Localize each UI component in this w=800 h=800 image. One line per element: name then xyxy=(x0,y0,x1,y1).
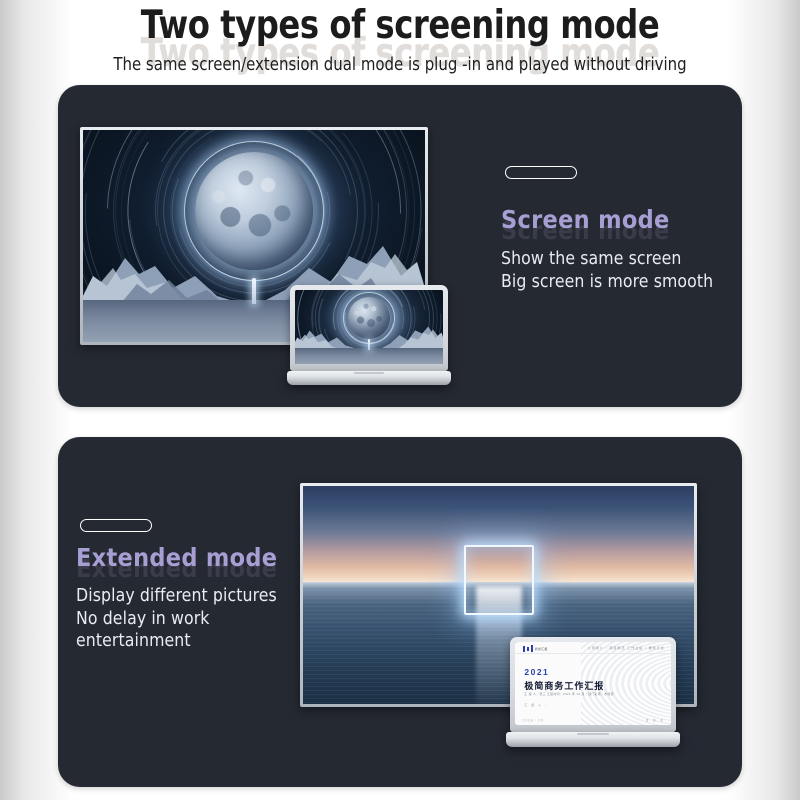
laptop-base-extended xyxy=(506,732,680,747)
laptop-base xyxy=(287,371,451,385)
laptop-screen-mode xyxy=(290,285,448,387)
page-header: Two types of screening mode Two types of… xyxy=(0,0,800,84)
slide-meta: 汇 报 人 ： xyxy=(524,703,549,707)
page-title: Two types of screening mode xyxy=(32,4,768,48)
card-screen-mode[interactable]: Screen mode Screen mode Show the same sc… xyxy=(58,85,742,407)
mode-description-extended: Display different pictures No delay in w… xyxy=(76,585,336,653)
slide-year: 2021 xyxy=(524,667,549,677)
slide-logo: 商务汇报 xyxy=(523,645,548,652)
mode-description-screen: Show the same screen Big screen is more … xyxy=(501,248,742,293)
mountain-left-mirror xyxy=(295,321,361,351)
mountain-right-mirror xyxy=(377,319,443,351)
ice-plain-mirror xyxy=(295,348,443,364)
slide-footer-right: 第 壹 章 xyxy=(646,718,665,722)
beacon-light xyxy=(252,278,256,304)
title-wrap: Two types of screening mode Two types of… xyxy=(0,4,800,52)
laptop-extended-mode: 商务汇报 公司简介 / 项目概况 工作业绩 / 履新计划 2021 极简商务工作… xyxy=(510,637,676,749)
slide-heading: 极简商务工作汇报 xyxy=(524,679,604,692)
slide-logo-text: 商务汇报 xyxy=(535,647,548,651)
page-subtitle: The same screen/extension dual mode is p… xyxy=(20,54,780,76)
card-extended-mode[interactable]: Extended mode Extended mode Display diff… xyxy=(58,437,742,787)
mode-title-screen: Screen mode xyxy=(501,206,670,234)
scene-night-moon-mirror xyxy=(295,290,443,364)
presentation-slide: 商务汇报 公司简介 / 项目概况 工作业绩 / 履新计划 2021 极简商务工作… xyxy=(515,642,671,725)
laptop-lid xyxy=(290,285,448,371)
badge-pill-screen-mode xyxy=(505,166,577,179)
laptop-lid-extended: 商务汇报 公司简介 / 项目概况 工作业绩 / 履新计划 2021 极简商务工作… xyxy=(510,637,676,732)
beacon-light-mirror xyxy=(368,339,370,350)
badge-pill-extended-mode xyxy=(80,519,152,532)
laptop-display-extended: 商务汇报 公司简介 / 项目概况 工作业绩 / 履新计划 2021 极简商务工作… xyxy=(515,642,671,725)
slide-subheading: 汇 报 人：张三 汇报时间：2021 年 12 月 / 部门名称：市场部 xyxy=(524,692,613,696)
slide-nav-text: 公司简介 / 项目概况 工作业绩 / 履新计划 xyxy=(588,646,665,650)
laptop-display xyxy=(295,290,443,364)
mode-title-extended: Extended mode xyxy=(76,544,277,572)
neon-square-graphic xyxy=(464,545,534,615)
slide-footer-left: 工作总结 / 计划 xyxy=(521,718,543,722)
mountain-left xyxy=(83,236,257,308)
